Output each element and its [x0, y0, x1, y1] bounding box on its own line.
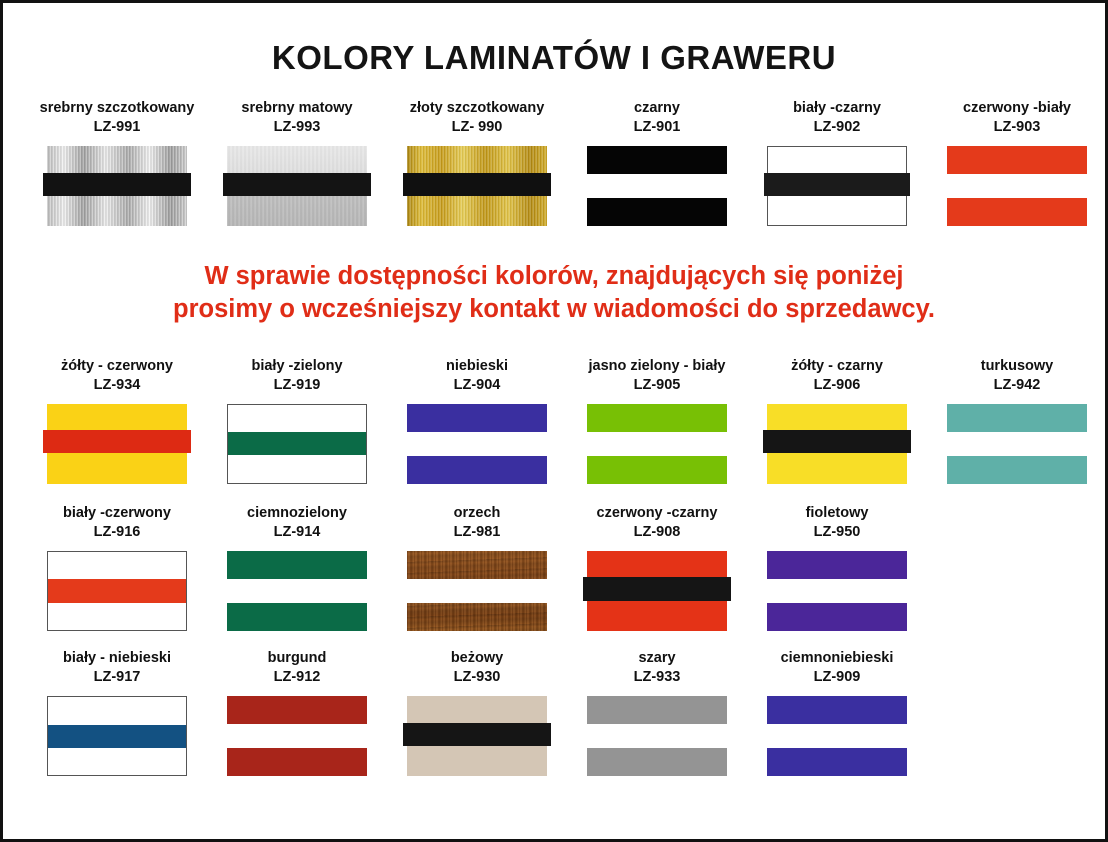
swatch-cell-lz-904[interactable]: niebieskiLZ-904 [387, 357, 567, 484]
swatch-engrave-band [43, 430, 191, 453]
swatch-caption: ciemnozielonyLZ-914 [247, 504, 347, 542]
swatch-color-name: biały -czerwony [63, 505, 171, 521]
swatch-caption: srebrny matowyLZ-993 [241, 99, 352, 137]
swatch-caption: czerwony -czarnyLZ-908 [597, 504, 718, 542]
swatch-sample-lz-912[interactable] [227, 696, 367, 776]
swatch-caption: burgundLZ-912 [268, 649, 327, 687]
swatch-color-name: srebrny szczotkowany [40, 100, 195, 116]
swatch-color-code: LZ-930 [451, 668, 503, 687]
swatch-caption: czerwony -białyLZ-903 [963, 99, 1071, 137]
swatch-sample-lz-906[interactable] [767, 404, 907, 484]
swatch-color-code: LZ-916 [63, 523, 171, 542]
swatch-engrave-band [228, 432, 366, 455]
swatch-sample-lz-990[interactable] [407, 146, 547, 226]
swatch-cell-lz-903[interactable]: czerwony -białyLZ-903 [927, 99, 1107, 226]
swatch-cell-lz-906[interactable]: żółty - czarnyLZ-906 [747, 357, 927, 484]
swatch-sample-lz-914[interactable] [227, 551, 367, 631]
color-chart-page: KOLORY LAMINATÓW I GRAWERU srebrny szczo… [0, 0, 1108, 842]
swatch-caption: turkusowyLZ-942 [981, 357, 1054, 395]
swatch-row-1: srebrny szczotkowanyLZ-991srebrny matowy… [3, 99, 1105, 226]
swatch-sample-lz-933[interactable] [587, 696, 727, 776]
swatch-color-name: ciemnoniebieski [781, 650, 894, 666]
swatch-cell-lz-916[interactable]: biały -czerwonyLZ-916 [27, 504, 207, 631]
swatch-cell-lz-991[interactable]: srebrny szczotkowanyLZ-991 [27, 99, 207, 226]
swatch-caption: szaryLZ-933 [634, 649, 681, 687]
swatch-color-code: LZ-902 [793, 118, 881, 137]
swatch-color-name: biały -czarny [793, 100, 881, 116]
swatch-color-name: jasno zielony - biały [589, 358, 726, 374]
swatch-cell-lz-981[interactable]: orzechLZ-981 [387, 504, 567, 631]
swatch-sample-lz-905[interactable] [587, 404, 727, 484]
swatch-cell-lz-901[interactable]: czarnyLZ-901 [567, 99, 747, 226]
swatch-engrave-band [587, 174, 727, 198]
swatch-caption: biały -czerwonyLZ-916 [63, 504, 171, 542]
swatch-color-name: srebrny matowy [241, 100, 352, 116]
swatch-cell-lz-917[interactable]: biały - niebieskiLZ-917 [27, 649, 207, 776]
swatch-caption: niebieskiLZ-904 [446, 357, 508, 395]
swatch-color-name: czarny [634, 100, 680, 116]
swatch-color-name: biały -zielony [251, 358, 342, 374]
swatch-color-code: LZ-993 [241, 118, 352, 137]
swatch-sample-lz-934[interactable] [47, 404, 187, 484]
swatch-color-code: LZ-906 [791, 376, 883, 395]
swatch-caption: złoty szczotkowanyLZ- 990 [410, 99, 545, 137]
swatch-cell-lz-905[interactable]: jasno zielony - białyLZ-905 [567, 357, 747, 484]
swatch-color-name: żółty - czarny [791, 358, 883, 374]
notice-line-1: W sprawie dostępności kolorów, znajdując… [3, 260, 1105, 293]
swatch-color-name: orzech [454, 505, 501, 521]
swatch-color-name: turkusowy [981, 358, 1054, 374]
swatch-color-name: burgund [268, 650, 327, 666]
swatch-cell-lz-934[interactable]: żółty - czerwonyLZ-934 [27, 357, 207, 484]
availability-notice: W sprawie dostępności kolorów, znajdując… [3, 260, 1105, 326]
swatch-color-code: LZ-934 [61, 376, 173, 395]
swatch-color-code: LZ-942 [981, 376, 1054, 395]
swatch-color-name: niebieski [446, 358, 508, 374]
swatch-sample-lz-904[interactable] [407, 404, 547, 484]
swatch-cell-lz-914[interactable]: ciemnozielonyLZ-914 [207, 504, 387, 631]
swatch-engrave-band [583, 577, 731, 600]
swatch-caption: żółty - czarnyLZ-906 [791, 357, 883, 395]
swatch-caption: czarnyLZ-901 [634, 99, 681, 137]
swatch-caption: srebrny szczotkowanyLZ-991 [40, 99, 195, 137]
swatch-sample-lz-981[interactable] [407, 551, 547, 631]
swatch-color-name: ciemnozielony [247, 505, 347, 521]
swatch-engrave-band [227, 579, 367, 603]
swatch-color-code: LZ-917 [63, 668, 171, 687]
swatch-engrave-band [43, 173, 191, 196]
swatch-cell-lz-933[interactable]: szaryLZ-933 [567, 649, 747, 776]
swatch-color-code: LZ-905 [589, 376, 726, 395]
swatch-sample-lz-917[interactable] [47, 696, 187, 776]
swatch-caption: fioletowyLZ-950 [806, 504, 869, 542]
swatch-engrave-band [587, 432, 727, 456]
swatch-sample-lz-901[interactable] [587, 146, 727, 226]
swatch-caption: orzechLZ-981 [454, 504, 501, 542]
swatch-cell-lz-909[interactable]: ciemnoniebieskiLZ-909 [747, 649, 927, 776]
notice-line-2: prosimy o wcześniejszy kontakt w wiadomo… [3, 293, 1105, 326]
swatch-color-code: LZ-908 [597, 523, 718, 542]
swatch-color-code: LZ- 990 [410, 118, 545, 137]
swatch-engrave-band [407, 432, 547, 456]
swatch-engrave-band [403, 173, 551, 196]
swatch-engrave-band [587, 724, 727, 748]
swatch-color-code: LZ-919 [251, 376, 342, 395]
swatch-sample-lz-942[interactable] [947, 404, 1087, 484]
swatch-engrave-band [947, 174, 1087, 198]
swatch-color-code: LZ-901 [634, 118, 681, 137]
swatch-sample-lz-950[interactable] [767, 551, 907, 631]
swatch-row-3: biały -czerwonyLZ-916ciemnozielonyLZ-914… [3, 504, 1105, 631]
swatch-row-2: żółty - czerwonyLZ-934biały -zielonyLZ-9… [3, 357, 1105, 484]
swatch-sample-lz-902[interactable] [767, 146, 907, 226]
swatch-sample-lz-909[interactable] [767, 696, 907, 776]
swatch-caption: żółty - czerwonyLZ-934 [61, 357, 173, 395]
swatch-engrave-band [403, 723, 551, 746]
swatch-color-code: LZ-991 [40, 118, 195, 137]
swatch-color-code: LZ-903 [963, 118, 1071, 137]
swatch-color-name: czerwony -czarny [597, 505, 718, 521]
swatch-color-code: LZ-914 [247, 523, 347, 542]
swatch-color-code: LZ-904 [446, 376, 508, 395]
page-title: KOLORY LAMINATÓW I GRAWERU [3, 39, 1105, 77]
swatch-engrave-band [48, 725, 186, 748]
swatch-sample-lz-993[interactable] [227, 146, 367, 226]
swatch-cell-lz-930[interactable]: beżowyLZ-930 [387, 649, 567, 776]
swatch-sample-lz-930[interactable] [407, 696, 547, 776]
swatch-caption: biały -zielonyLZ-919 [251, 357, 342, 395]
swatch-engrave-band [407, 579, 547, 603]
swatch-sample-lz-919[interactable] [227, 404, 367, 484]
swatch-engrave-band [48, 579, 186, 602]
swatch-sample-lz-916[interactable] [47, 551, 187, 631]
swatch-engrave-band [767, 579, 907, 603]
swatch-sample-lz-903[interactable] [947, 146, 1087, 226]
swatch-caption: beżowyLZ-930 [451, 649, 503, 687]
swatch-engrave-band [223, 173, 371, 196]
swatch-color-name: czerwony -biały [963, 100, 1071, 116]
swatch-engrave-band [767, 724, 907, 748]
swatch-cell-lz-919[interactable]: biały -zielonyLZ-919 [207, 357, 387, 484]
swatch-color-code: LZ-909 [781, 668, 894, 687]
swatch-cell-lz-993[interactable]: srebrny matowyLZ-993 [207, 99, 387, 226]
swatch-engrave-band [763, 430, 911, 453]
swatch-color-code: LZ-950 [806, 523, 869, 542]
swatch-color-name: fioletowy [806, 505, 869, 521]
swatch-sample-lz-991[interactable] [47, 146, 187, 226]
swatch-engrave-band [227, 724, 367, 748]
swatch-cell-lz-990[interactable]: złoty szczotkowanyLZ- 990 [387, 99, 567, 226]
swatch-caption: biały -czarnyLZ-902 [793, 99, 881, 137]
swatch-engrave-band [947, 432, 1087, 456]
swatch-caption: jasno zielony - białyLZ-905 [589, 357, 726, 395]
swatch-cell-lz-942[interactable]: turkusowyLZ-942 [927, 357, 1107, 484]
swatch-cell-lz-908[interactable]: czerwony -czarnyLZ-908 [567, 504, 747, 631]
swatch-color-name: żółty - czerwony [61, 358, 173, 374]
swatch-row-4: biały - niebieskiLZ-917burgundLZ-912beżo… [3, 649, 1105, 776]
swatch-color-name: biały - niebieski [63, 650, 171, 666]
swatch-color-name: beżowy [451, 650, 503, 666]
swatch-cell-lz-950[interactable]: fioletowyLZ-950 [747, 504, 927, 631]
swatch-color-code: LZ-933 [634, 668, 681, 687]
swatch-color-code: LZ-981 [454, 523, 501, 542]
swatch-engrave-band [764, 173, 910, 196]
swatch-color-name: złoty szczotkowany [410, 100, 545, 116]
swatch-sample-lz-908[interactable] [587, 551, 727, 631]
swatch-cell-lz-902[interactable]: biały -czarnyLZ-902 [747, 99, 927, 226]
swatch-caption: ciemnoniebieskiLZ-909 [781, 649, 894, 687]
swatch-color-name: szary [638, 650, 675, 666]
swatch-caption: biały - niebieskiLZ-917 [63, 649, 171, 687]
swatch-color-code: LZ-912 [268, 668, 327, 687]
swatch-cell-lz-912[interactable]: burgundLZ-912 [207, 649, 387, 776]
